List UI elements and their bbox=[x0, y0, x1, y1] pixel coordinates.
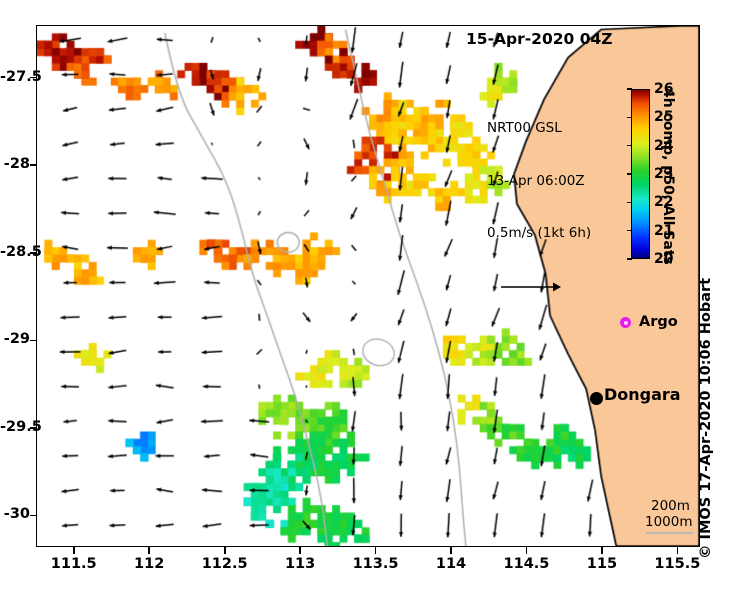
vector-reference-arrow-icon bbox=[499, 280, 569, 294]
vector-scale-label: 0.5m/s (1kt 6h) bbox=[487, 225, 591, 243]
city-label: Dongara bbox=[604, 385, 681, 404]
colorbar-tick-mark bbox=[627, 145, 632, 147]
product-label: NRT00 GSL bbox=[487, 120, 591, 138]
y-tick-mark bbox=[30, 340, 37, 342]
colorbar-tick-mark bbox=[627, 258, 632, 260]
colorbar-tick-mark bbox=[627, 117, 632, 119]
x-tick-mark bbox=[677, 546, 679, 554]
city-marker-icon bbox=[590, 392, 603, 405]
x-tick-label: 113.5 bbox=[336, 556, 416, 572]
bathy-contour-sample-line bbox=[646, 532, 693, 534]
colorbar-tick-mark bbox=[627, 230, 632, 232]
x-tick-mark bbox=[224, 546, 226, 554]
colorbar-tick-mark bbox=[627, 88, 632, 90]
credit-label: © IMOS 17-Apr-2020 10:06 Hobart bbox=[698, 278, 714, 559]
x-tick-label: 111.5 bbox=[34, 556, 114, 572]
x-tick-label: 112.5 bbox=[185, 556, 265, 572]
bathy-200m-label: 200m bbox=[651, 498, 690, 514]
x-tick-mark bbox=[450, 546, 452, 554]
bathy-1000m-label: 1000m bbox=[645, 514, 693, 530]
y-tick-mark bbox=[30, 515, 37, 517]
y-tick-label: -30 bbox=[0, 506, 30, 522]
y-tick-mark bbox=[30, 427, 37, 429]
colorbar-gradient bbox=[631, 89, 650, 259]
valid-time-label: 13-Apr 06:00Z bbox=[487, 173, 591, 191]
x-tick-mark bbox=[73, 546, 75, 554]
x-tick-mark bbox=[148, 546, 150, 554]
y-tick-mark bbox=[30, 77, 37, 79]
argo-float-marker-icon bbox=[620, 317, 631, 328]
x-tick-label: 115 bbox=[562, 556, 642, 572]
map-plot-area[interactable] bbox=[36, 25, 700, 547]
x-tick-label: 112 bbox=[109, 556, 189, 572]
colorbar[interactable]: 20212223242526 bbox=[631, 89, 650, 259]
y-tick-mark bbox=[30, 164, 37, 166]
x-tick-mark bbox=[601, 546, 603, 554]
argo-legend-label: Argo bbox=[639, 314, 678, 330]
x-tick-label: 114 bbox=[411, 556, 491, 572]
y-tick-label: -29.5 bbox=[0, 419, 30, 435]
vector-annotation: NRT00 GSL 13-Apr 06:00Z 0.5m/s (1kt 6h) bbox=[487, 85, 591, 329]
x-tick-label: 113 bbox=[260, 556, 340, 572]
colorbar-tick-mark bbox=[627, 202, 632, 204]
colorbar-tick-mark bbox=[627, 173, 632, 175]
oceanographic-map-figure: -27.5-28-28.5-29-29.5-30 111.5112112.511… bbox=[0, 0, 739, 592]
y-tick-label: -29 bbox=[0, 331, 30, 347]
y-tick-mark bbox=[30, 252, 37, 254]
x-tick-label: 114.5 bbox=[486, 556, 566, 572]
x-tick-mark bbox=[526, 546, 528, 554]
date-stamp-label: 15-Apr-2020 04Z bbox=[466, 30, 613, 48]
y-tick-label: -28.5 bbox=[0, 244, 30, 260]
y-tick-label: -27.5 bbox=[0, 69, 30, 85]
x-tick-mark bbox=[299, 546, 301, 554]
x-tick-mark bbox=[375, 546, 377, 554]
y-tick-label: -28 bbox=[0, 156, 30, 172]
colorbar-title: 4h comp, p50, All Sats bbox=[660, 88, 676, 265]
sst-current-map-canvas[interactable] bbox=[37, 26, 699, 546]
